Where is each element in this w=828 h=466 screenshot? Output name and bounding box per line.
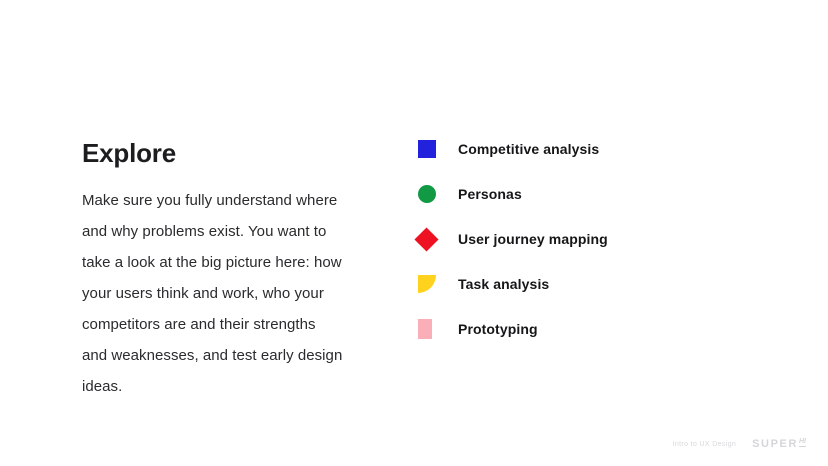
list-item: Prototyping bbox=[418, 316, 758, 342]
legend-list: Competitive analysis Personas User journ… bbox=[418, 136, 758, 342]
slide-canvas: Explore Make sure you fully understand w… bbox=[0, 0, 828, 466]
footer-logo-word: SUPER bbox=[752, 439, 798, 450]
yellow-quarter-circle-icon bbox=[418, 275, 436, 293]
legend-marker bbox=[418, 181, 444, 207]
blue-square-icon bbox=[418, 140, 436, 158]
legend-marker bbox=[418, 271, 444, 297]
pink-rectangle-icon bbox=[418, 319, 432, 339]
footer: Intro to UX Design SUPER HI bbox=[673, 439, 806, 450]
legend-item-label: Prototyping bbox=[458, 321, 538, 337]
left-text-column: Explore Make sure you fully understand w… bbox=[82, 138, 352, 402]
footer-course-label: Intro to UX Design bbox=[673, 441, 737, 448]
legend-item-label: Competitive analysis bbox=[458, 141, 599, 157]
list-item: Task analysis bbox=[418, 271, 758, 297]
superhi-logo: SUPER HI bbox=[752, 439, 806, 450]
list-item: Personas bbox=[418, 181, 758, 207]
red-diamond-icon bbox=[414, 227, 438, 251]
legend-marker bbox=[418, 316, 444, 342]
legend-item-label: User journey mapping bbox=[458, 231, 608, 247]
page-title: Explore bbox=[82, 138, 352, 168]
legend-column: Competitive analysis Personas User journ… bbox=[418, 136, 758, 342]
green-circle-icon bbox=[418, 185, 436, 203]
footer-logo-mark: HI bbox=[799, 438, 806, 447]
body-paragraph: Make sure you fully understand where and… bbox=[82, 185, 344, 402]
legend-item-label: Task analysis bbox=[458, 276, 549, 292]
legend-marker bbox=[418, 226, 444, 252]
list-item: User journey mapping bbox=[418, 226, 758, 252]
legend-marker bbox=[418, 136, 444, 162]
legend-item-label: Personas bbox=[458, 186, 522, 202]
list-item: Competitive analysis bbox=[418, 136, 758, 162]
